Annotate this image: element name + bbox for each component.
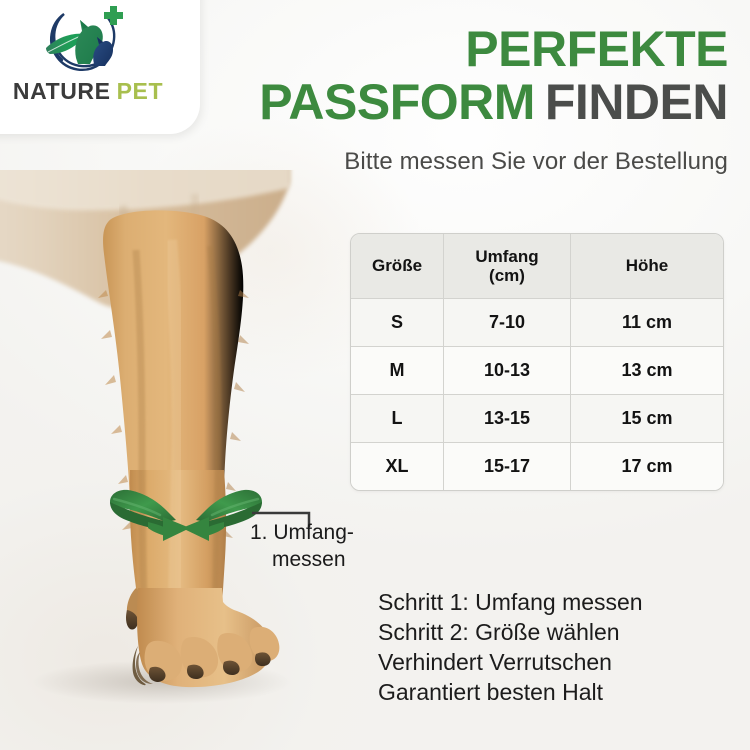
size-chart-table: Größe Umfang (cm) Höhe S 7-10 11 cm M 10…	[350, 233, 724, 491]
title-word-finden: FINDEN	[545, 74, 728, 130]
brand-wordmark: NATUREPET	[0, 80, 176, 103]
cell-hoehe: 17 cm	[571, 443, 724, 491]
measure-callout-text: 1. Umfang- messen	[250, 520, 430, 574]
table-header-row: Größe Umfang (cm) Höhe	[351, 234, 723, 299]
step-line-4: Garantiert besten Halt	[378, 678, 738, 708]
step-line-1: Schritt 1: Umfang messen	[378, 588, 738, 618]
cell-umfang: 15-17	[444, 443, 571, 491]
title-line-2: PASSFORMFINDEN	[208, 76, 728, 129]
column-header-hoehe: Höhe	[571, 234, 724, 299]
table-row: XL 15-17 17 cm	[351, 443, 723, 491]
table-row: S 7-10 11 cm	[351, 299, 723, 347]
cell-size: XL	[351, 443, 444, 491]
product-size-guide-page: 1. Umfang- messen	[0, 0, 750, 750]
cell-hoehe: 11 cm	[571, 299, 724, 347]
column-header-umfang-line1: Umfang	[475, 247, 538, 266]
callout-line-2: messen	[250, 547, 430, 574]
column-header-groesse: Größe	[351, 234, 444, 299]
page-title: PERFEKTE PASSFORMFINDEN	[208, 24, 728, 128]
cell-hoehe: 15 cm	[571, 395, 724, 443]
instruction-steps-list: Schritt 1: Umfang messen Schritt 2: Größ…	[378, 588, 738, 708]
step-line-3: Verhindert Verrutschen	[378, 648, 738, 678]
callout-line-1: 1. Umfang-	[250, 521, 354, 544]
cell-size: S	[351, 299, 444, 347]
step-line-2: Schritt 2: Größe wählen	[378, 618, 738, 648]
column-header-umfang: Umfang (cm)	[444, 234, 571, 299]
title-line-1: PERFEKTE	[208, 24, 728, 76]
brand-name-primary: NATURE	[13, 78, 111, 104]
cell-umfang: 13-15	[444, 395, 571, 443]
plus-badge-icon	[104, 6, 123, 25]
nature-pet-dog-cat-logo-icon	[38, 2, 130, 78]
brand-name-secondary: PET	[117, 78, 164, 104]
cell-size: M	[351, 347, 444, 395]
background-warm-glow-bottom	[0, 430, 380, 750]
title-word-passform: PASSFORM	[259, 74, 535, 130]
measuring-band-arrows-icon	[108, 486, 264, 548]
cell-umfang: 7-10	[444, 299, 571, 347]
table-row: M 10-13 13 cm	[351, 347, 723, 395]
cell-umfang: 10-13	[444, 347, 571, 395]
cell-hoehe: 13 cm	[571, 347, 724, 395]
column-header-umfang-line2: (cm)	[489, 266, 525, 285]
page-subtitle: Bitte messen Sie vor der Bestellung	[188, 148, 728, 176]
cell-size: L	[351, 395, 444, 443]
dog-leg-photo	[0, 170, 350, 750]
table-row: L 13-15 15 cm	[351, 395, 723, 443]
brand-logo-card: NATUREPET	[0, 0, 200, 134]
